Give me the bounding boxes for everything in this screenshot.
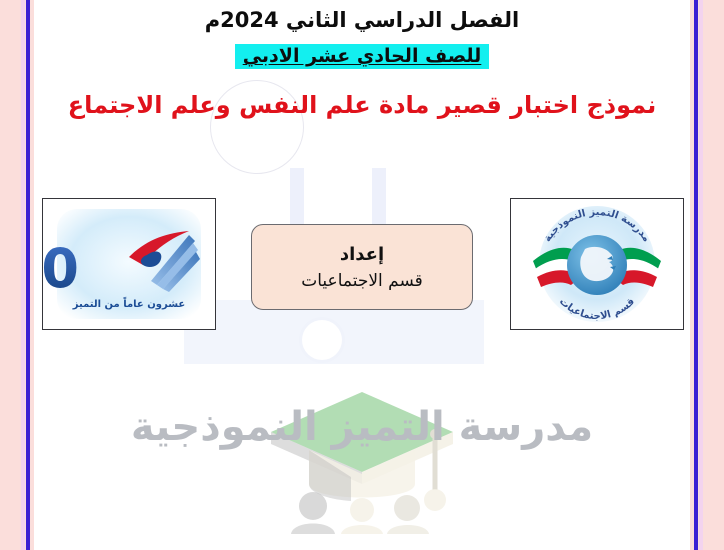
exam-cover-page: الفصل الدراسي الثاني 2024م للصف الحادي ع… — [0, 0, 724, 550]
page-border-rule-left — [26, 0, 30, 550]
page-watermark: مدرسة التميز النموذجية — [34, 352, 690, 550]
watermark-text: مدرسة التميز النموذجية — [34, 404, 690, 450]
anniversary-logo-frame: 20 عشرون عاماً من التميز — [42, 198, 216, 330]
page-border-rule-right — [694, 0, 698, 550]
prepared-by-department: قسم الاجتماعيات — [301, 271, 423, 291]
logos-and-credit-row: مدرسة التميز النموذجية قسم الاجتماعيات إ… — [34, 198, 690, 334]
school-crest-icon: مدرسة التميز النموذجية قسم الاجتماعيات — [511, 199, 683, 329]
page-canvas: الفصل الدراسي الثاني 2024م للصف الحادي ع… — [34, 0, 690, 550]
header-block: الفصل الدراسي الثاني 2024م للصف الحادي ع… — [34, 8, 690, 119]
anniversary-number: 20 — [43, 237, 79, 300]
exam-title-line: نموذج اختبار قصير مادة علم النفس وعلم ال… — [34, 91, 690, 119]
grade-line-wrapper: للصف الحادي عشر الادبي — [34, 44, 690, 69]
graduation-cap-icon — [247, 374, 477, 534]
prepared-by-box: إعداد قسم الاجتماعيات — [251, 224, 473, 310]
term-line: الفصل الدراسي الثاني 2024م — [34, 8, 690, 32]
twenty-years-icon: 20 عشرون عاماً من التميز — [43, 199, 215, 329]
prepared-by-label: إعداد — [340, 244, 384, 265]
grade-line-highlighted: للصف الحادي عشر الادبي — [235, 44, 490, 69]
school-logo-frame: مدرسة التميز النموذجية قسم الاجتماعيات — [510, 198, 684, 330]
